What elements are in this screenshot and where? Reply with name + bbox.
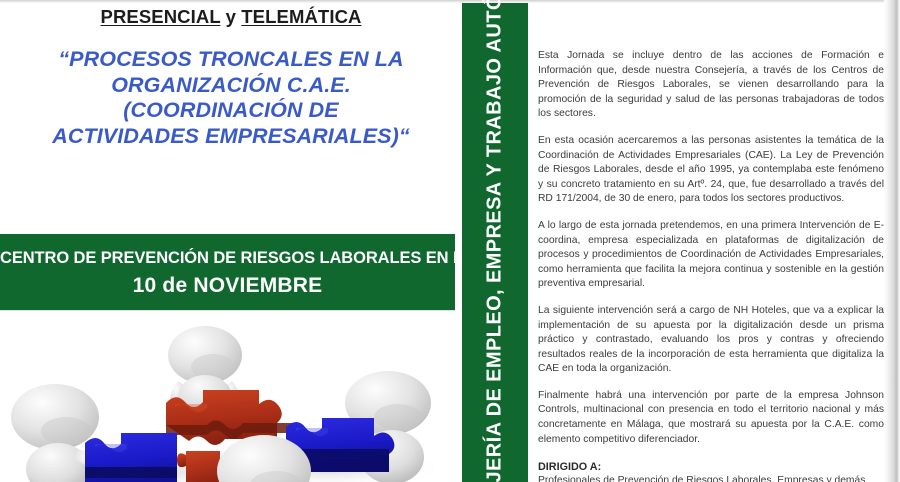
modality-conjunction: y bbox=[220, 6, 241, 27]
paragraph-4: La siguiente intervención será a cargo d… bbox=[538, 304, 884, 377]
title-line-3: (COORDINACIÓN DE bbox=[18, 98, 444, 124]
paragraph-2: En esta ocasión acercaremos a las person… bbox=[538, 134, 884, 207]
modality-presencial: PRESENCIAL bbox=[101, 6, 221, 27]
audience-body: Profesionales de Prevención de Riesgos L… bbox=[538, 474, 884, 482]
paragraph-5: Finalmente habrá una intervención por pa… bbox=[538, 389, 884, 447]
ministry-sidebar: CONSEJERÍA DE EMPLEO, EMPRESA Y TRABAJO … bbox=[462, 3, 528, 482]
ministry-vertical-label: CONSEJERÍA DE EMPLEO, EMPRESA Y TRABAJO … bbox=[484, 0, 507, 482]
title-line-4: ACTIVIDADES EMPRESARIALES)“ bbox=[18, 124, 444, 150]
modality-telematica: TELEMÁTICA bbox=[241, 6, 361, 27]
modality-kicker: PRESENCIAL y TELEMÁTICA bbox=[0, 6, 462, 28]
venue-label: CENTRO DE PREVENCIÓN DE RIESGOS LABORALE… bbox=[0, 249, 455, 268]
puzzle-teamwork-illustration bbox=[0, 321, 458, 482]
puzzle-piece-blue-left bbox=[85, 433, 177, 482]
event-date: 10 de NOVIEMBRE bbox=[0, 274, 455, 298]
poster-page: PRESENCIAL y TELEMÁTICA “PROCESOS TRONCA… bbox=[0, 0, 900, 482]
puzzle-illustration-svg bbox=[0, 321, 458, 482]
description-inner: Esta Jornada se incluye dentro de las ac… bbox=[538, 49, 884, 482]
paragraph-3: A lo largo de esta jornada pretendemos, … bbox=[538, 219, 884, 292]
paragraph-1: Esta Jornada se incluye dentro de las ac… bbox=[538, 49, 884, 122]
audience-heading: DIRIGIDO A: bbox=[538, 461, 884, 473]
page-title: “PROCESOS TRONCALES EN LA ORGANIZACIÓN C… bbox=[18, 47, 444, 149]
venue-date-band: CENTRO DE PREVENCIÓN DE RIESGOS LABORALE… bbox=[0, 234, 455, 310]
description-column: Esta Jornada se incluye dentro de las ac… bbox=[528, 3, 884, 482]
title-line-2: ORGANIZACIÓN C.A.E. bbox=[18, 73, 444, 99]
left-panel: PRESENCIAL y TELEMÁTICA “PROCESOS TRONCA… bbox=[0, 3, 462, 482]
document-right-edge bbox=[884, 0, 900, 482]
title-line-1: “PROCESOS TRONCALES EN LA bbox=[18, 47, 444, 73]
